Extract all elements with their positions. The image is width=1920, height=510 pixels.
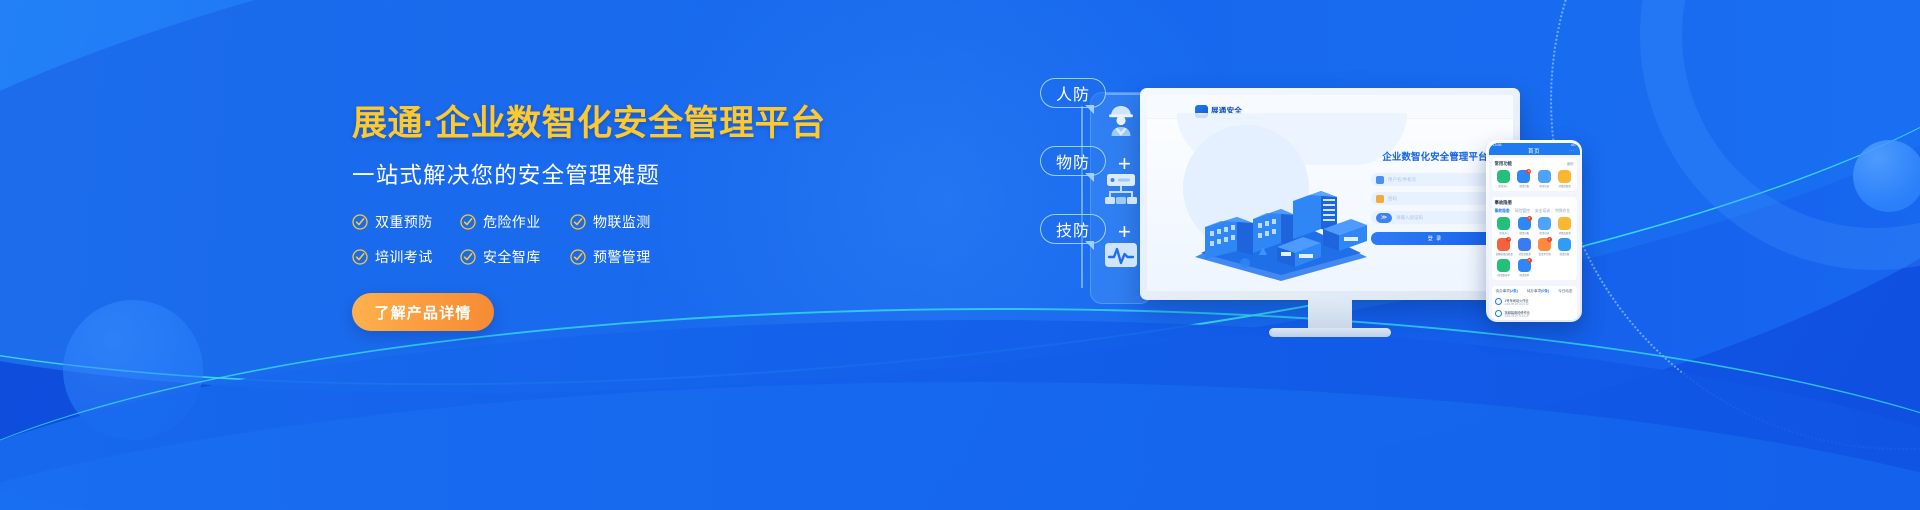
check-circle-icon bbox=[460, 214, 476, 230]
app-label: 隐患整改单 bbox=[1498, 273, 1510, 277]
phone-nav-title: 首页 bbox=[1528, 147, 1540, 155]
username-field[interactable]: 用户名/手机号 bbox=[1371, 173, 1499, 186]
tab-training[interactable]: 安全培训 bbox=[1535, 209, 1550, 214]
app-tile[interactable]: 隐患台账 bbox=[1555, 238, 1573, 256]
mobile-phone: 13:56 4G 首页 ··· 常用功能 编辑 检查录入 bbox=[1486, 140, 1582, 322]
list-item-date: 2024-05-28 13:21:42 bbox=[1505, 303, 1574, 306]
login-card: 企业数智化安全管理平台 用户名/手机号 密码 ≫ 请输 bbox=[1371, 149, 1499, 245]
section-header: 常用功能 编辑 bbox=[1495, 161, 1574, 167]
badge-count: 2 bbox=[1547, 237, 1552, 242]
app-label: 检查录入 bbox=[1499, 184, 1509, 188]
tab-risk[interactable]: 风险管控 bbox=[1515, 209, 1530, 214]
badge-count: 3 bbox=[1506, 237, 1511, 242]
hero-banner: 展通·企业数智化安全管理平台 一站式解决您的安全管理难题 双重预防 危险作业 bbox=[0, 0, 1920, 510]
badge-wufang[interactable]: 物防 bbox=[1040, 146, 1106, 176]
app-label: 隐患分配 bbox=[1520, 231, 1530, 235]
feature-row: 双重预防 危险作业 物联监测 bbox=[352, 212, 652, 232]
badge-jifang[interactable]: 技防 bbox=[1040, 214, 1106, 244]
feature-label: 危险作业 bbox=[483, 212, 541, 232]
app-tile[interactable]: 检查录入 bbox=[1495, 217, 1514, 235]
app-tile[interactable]: 6 隐患分配 bbox=[1515, 170, 1533, 188]
check-circle-icon bbox=[352, 214, 368, 230]
page-title: 展通·企业数智化安全管理平台 bbox=[352, 104, 822, 143]
feature-item: 危险作业 bbox=[460, 212, 570, 232]
app-tile[interactable]: 检查记录 bbox=[1535, 170, 1553, 188]
lock-icon bbox=[1376, 195, 1384, 203]
phone-frame: 13:56 4G 首页 ··· 常用功能 编辑 检查录入 bbox=[1486, 140, 1582, 322]
app-tile[interactable]: 隐患整改单 bbox=[1495, 259, 1514, 277]
network-device-icon bbox=[1098, 164, 1144, 210]
app-icon bbox=[1558, 170, 1571, 183]
monitor-neck bbox=[1308, 300, 1352, 328]
app-label: 隐患分配 bbox=[1519, 184, 1529, 188]
phone-screen: 13:56 4G 首页 ··· 常用功能 编辑 检查录入 bbox=[1489, 143, 1580, 320]
app-icon bbox=[1497, 170, 1510, 183]
app-icon: 8 bbox=[1518, 259, 1531, 272]
feature-list: 双重预防 危险作业 物联监测 bbox=[352, 212, 652, 267]
app-icon bbox=[1538, 217, 1551, 230]
todo-right-label: 今日动态 bbox=[1558, 289, 1572, 294]
waveform-monitor-icon bbox=[1098, 232, 1144, 278]
section-tabs: 事故隐患 风险管控 安全培训 特殊作业 bbox=[1495, 209, 1574, 214]
page-subtitle: 一站式解决您的安全管理难题 bbox=[352, 158, 822, 190]
login-title: 企业数智化安全管理平台 bbox=[1371, 149, 1499, 163]
isometric-factory-illustration bbox=[1181, 171, 1381, 283]
captcha-code: ≫ bbox=[1376, 213, 1392, 223]
feature-label: 安全智库 bbox=[483, 247, 541, 267]
phone-nav-more-icon[interactable]: ··· bbox=[1569, 148, 1576, 153]
todo-list-header: 待办事项(2条) 待办事项(0条) 今日动态 bbox=[1495, 289, 1574, 296]
feature-item: 物联监测 bbox=[570, 212, 651, 232]
badge-count: 6 bbox=[1526, 169, 1531, 174]
section-title: 常用功能 bbox=[1495, 161, 1513, 167]
section-title: 事故隐患 bbox=[1495, 200, 1513, 206]
password-placeholder: 密码 bbox=[1388, 196, 1397, 202]
feature-label: 培训考试 bbox=[375, 247, 433, 267]
tab-special-work[interactable]: 特殊作业 bbox=[1555, 209, 1570, 214]
todo-mid-count: (0条) bbox=[1541, 289, 1549, 293]
todo-mid-text: 待办事项 bbox=[1527, 289, 1541, 293]
app-icon: 6 bbox=[1518, 217, 1531, 230]
common-functions-card: 常用功能 编辑 检查录入 6 隐患分配 bbox=[1492, 158, 1577, 191]
app-icon: 3 bbox=[1497, 238, 1510, 251]
background-bottom-wave bbox=[0, 320, 1920, 510]
app-label: 隐患清单 bbox=[1520, 273, 1530, 277]
app-label: 检查记录 bbox=[1540, 231, 1550, 235]
app-label: 待整改隐患 bbox=[1558, 184, 1570, 188]
app-label: 检查记录 bbox=[1539, 184, 1549, 188]
badge-renfang[interactable]: 人防 bbox=[1040, 78, 1106, 108]
app-tile[interactable]: 待整改隐患 bbox=[1555, 170, 1573, 188]
badge-count: 6 bbox=[1527, 216, 1532, 221]
monitor-screen: 展通安全 企业数智化安全管理·助力企业安全生产 bbox=[1147, 95, 1513, 291]
learn-more-button[interactable]: 了解产品详情 bbox=[352, 293, 494, 331]
app-label: 待复查隐患 bbox=[1518, 252, 1530, 256]
list-item-text: 1号车间动火作业 2024-05-28 13:21:42 bbox=[1505, 298, 1574, 306]
app-tile[interactable]: 6 隐患分配 bbox=[1515, 217, 1533, 235]
todo-mid-label: 待办事项(0条) bbox=[1527, 289, 1549, 294]
list-item-text: 氯碱装置检修作业 2024-05-28 11:40:15 bbox=[1505, 310, 1574, 318]
monitor-base bbox=[1269, 328, 1391, 337]
background-bottom-cyan-line bbox=[0, 308, 1920, 510]
password-field[interactable]: 密码 bbox=[1371, 192, 1499, 205]
check-circle-icon bbox=[570, 249, 586, 265]
badge-connector-line bbox=[1081, 106, 1083, 288]
app-icon bbox=[1558, 238, 1571, 251]
todo-left-count: (2条) bbox=[1510, 289, 1518, 293]
check-circle-icon bbox=[570, 214, 586, 230]
app-icon: 2 bbox=[1538, 238, 1551, 251]
app-icon bbox=[1518, 238, 1531, 251]
app-tile[interactable]: 待复查隐患 bbox=[1515, 238, 1533, 256]
background-lens-dark bbox=[0, 0, 1920, 510]
list-item[interactable]: 1号车间动火作业 2024-05-28 13:21:42 bbox=[1495, 296, 1574, 308]
record-icon bbox=[1495, 310, 1502, 317]
app-icon bbox=[1497, 259, 1510, 272]
app-tile[interactable]: 待整改隐患 bbox=[1555, 217, 1573, 235]
hero-copy: 展通·企业数智化安全管理平台 一站式解决您的安全管理难题 双重预防 危险作业 bbox=[352, 104, 822, 331]
background-cyan-line bbox=[0, 0, 1920, 477]
background-ball-right bbox=[1853, 140, 1920, 212]
check-circle-icon bbox=[352, 249, 368, 265]
app-grid: 检查录入 6 隐患分配 检查记录 bbox=[1495, 217, 1574, 277]
feature-item: 双重预防 bbox=[352, 212, 460, 232]
app-label: 复查不合格 bbox=[1538, 252, 1550, 256]
app-grid: 检查录入 6 隐患分配 检查记录 bbox=[1495, 170, 1574, 188]
feature-row: 培训考试 安全智库 预警管理 bbox=[352, 247, 652, 267]
list-item[interactable]: 氯碱装置检修作业 2024-05-28 11:40:15 bbox=[1495, 308, 1574, 320]
background-dotted-ring bbox=[1550, 0, 1920, 450]
background-circle-left bbox=[63, 300, 203, 440]
list-item-date: 2024-05-28 11:40:15 bbox=[1505, 315, 1574, 318]
app-label: 超期未整改隐患 bbox=[1495, 252, 1512, 256]
app-label: 检查录入 bbox=[1499, 231, 1509, 235]
phone-navbar: 首页 ··· bbox=[1489, 147, 1580, 155]
app-tile[interactable]: 检查录入 bbox=[1495, 170, 1513, 188]
todo-left-label: 待办事项(2条) bbox=[1496, 289, 1518, 294]
todo-left-text: 待办事项 bbox=[1496, 289, 1510, 293]
username-placeholder: 用户名/手机号 bbox=[1388, 177, 1416, 183]
app-icon bbox=[1538, 170, 1551, 183]
monitor-bezel: 展通安全 企业数智化安全管理·助力企业安全生产 bbox=[1140, 88, 1520, 300]
section-header: 事故隐患 bbox=[1495, 200, 1574, 206]
app-tile[interactable]: 2 复查不合格 bbox=[1535, 238, 1553, 256]
background-lens-light bbox=[0, 0, 1920, 485]
app-icon: 6 bbox=[1517, 170, 1530, 183]
login-submit-button[interactable]: 登 录 bbox=[1371, 232, 1499, 245]
badge-count: 8 bbox=[1527, 258, 1532, 263]
app-tile[interactable]: 检查记录 bbox=[1535, 217, 1553, 235]
feature-item: 预警管理 bbox=[570, 247, 651, 267]
feature-label: 物联监测 bbox=[593, 212, 651, 232]
app-tile[interactable]: 3 超期未整改隐患 bbox=[1495, 238, 1514, 256]
tab-hazard[interactable]: 事故隐患 bbox=[1495, 209, 1510, 214]
app-label: 待整改隐患 bbox=[1558, 231, 1570, 235]
record-icon bbox=[1495, 298, 1502, 305]
check-circle-icon bbox=[460, 249, 476, 265]
app-label: 隐患台账 bbox=[1560, 252, 1570, 256]
section-edit-link[interactable]: 编辑 bbox=[1567, 161, 1574, 166]
feature-label: 双重预防 bbox=[375, 212, 433, 232]
app-icon bbox=[1497, 217, 1510, 230]
captcha-row: ≫ 请输入验证码 bbox=[1371, 211, 1499, 224]
user-icon bbox=[1376, 176, 1384, 184]
worker-helmet-icon bbox=[1098, 96, 1144, 142]
feature-item: 培训考试 bbox=[352, 247, 460, 267]
web-body: 企业数智化安全管理平台 用户名/手机号 密码 ≫ 请输 bbox=[1147, 119, 1513, 291]
todo-list-card: 待办事项(2条) 待办事项(0条) 今日动态 1号车间动火作业 2024-05-… bbox=[1492, 286, 1577, 320]
desktop-monitor: 展通安全 企业数智化安全管理·助力企业安全生产 bbox=[1140, 88, 1520, 337]
captcha-placeholder: 请输入验证码 bbox=[1396, 215, 1423, 221]
background-ring-right bbox=[1640, 0, 1920, 270]
feature-label: 预警管理 bbox=[593, 247, 651, 267]
app-tile[interactable]: 8 隐患清单 bbox=[1515, 259, 1533, 277]
background-bottom-wave-2 bbox=[0, 382, 1920, 510]
feature-item: 安全智库 bbox=[460, 247, 570, 267]
hazard-section-card: 事故隐患 事故隐患 风险管控 安全培训 特殊作业 检查录入 bbox=[1492, 197, 1577, 280]
captcha-field[interactable]: ≫ 请输入验证码 bbox=[1371, 211, 1499, 224]
app-icon bbox=[1558, 217, 1571, 230]
